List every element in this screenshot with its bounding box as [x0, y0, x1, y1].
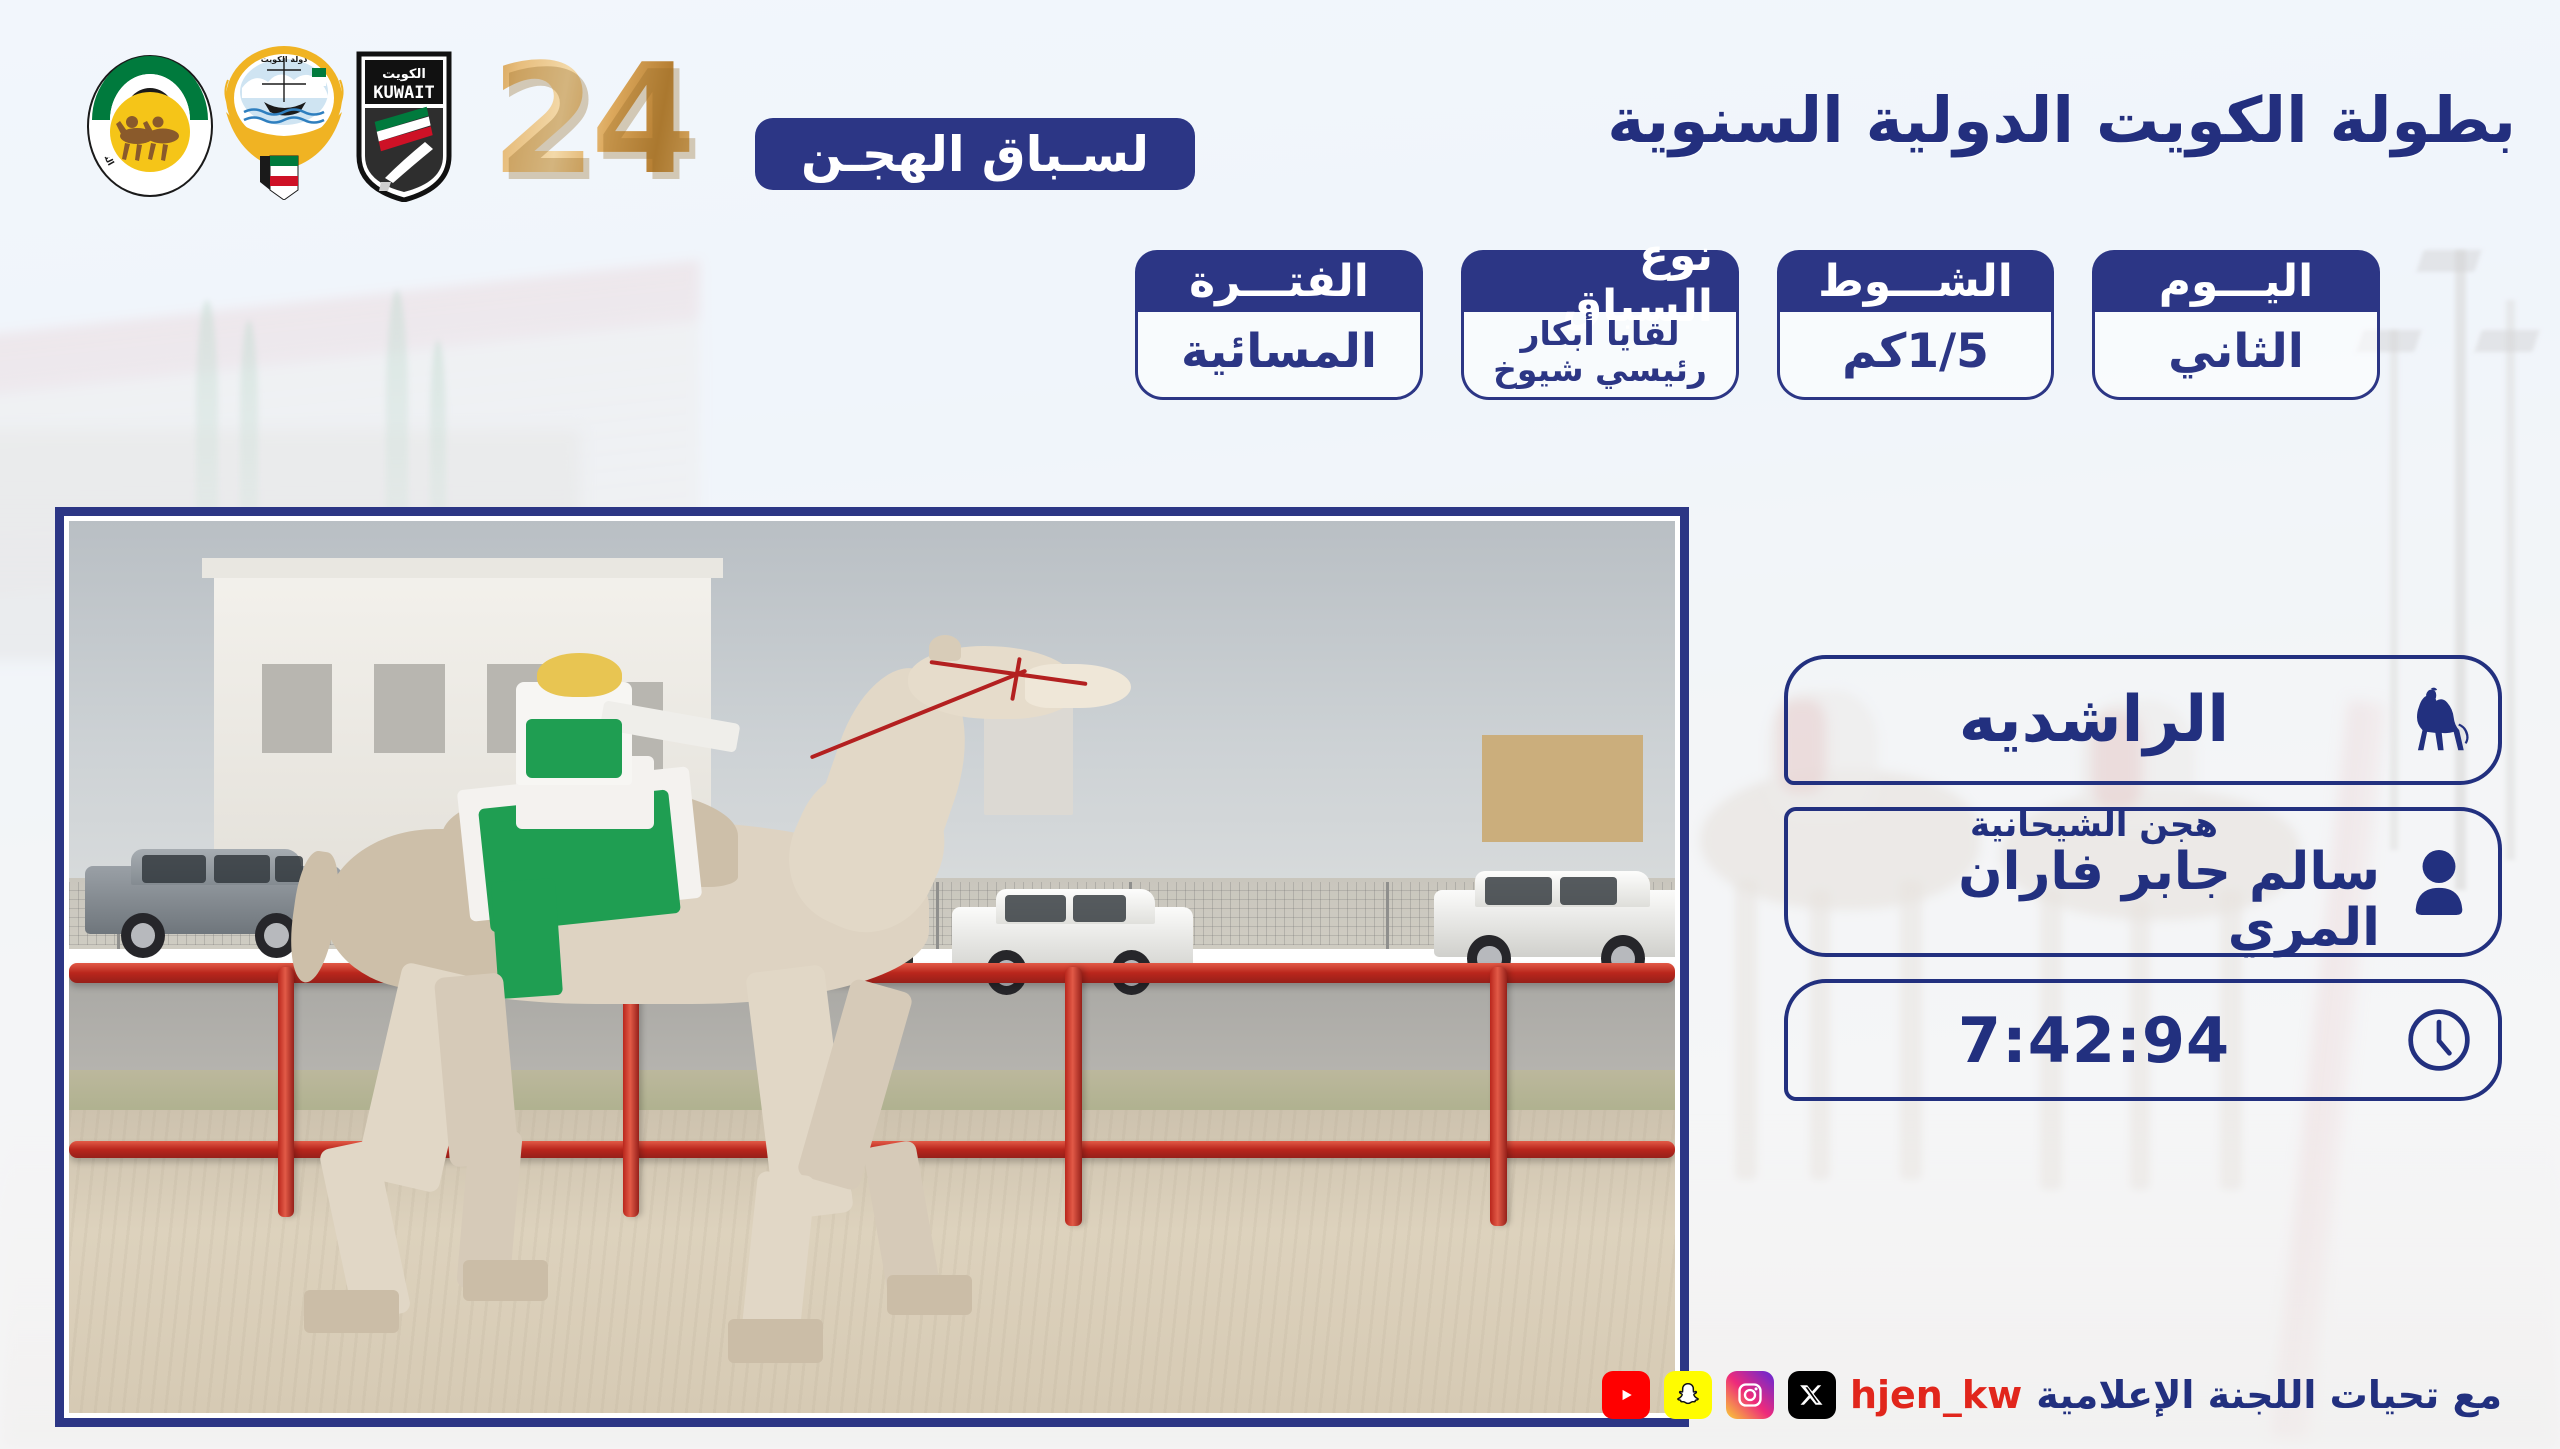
camel-ear: [929, 635, 961, 661]
info-card-day: اليـــوم الثاني: [2092, 250, 2380, 400]
photo-shed: [1482, 735, 1643, 842]
subtitle-pill-label: لسـباق الهجـن: [801, 126, 1149, 183]
instagram-icon[interactable]: [1726, 1371, 1774, 1419]
race-photo: [69, 521, 1675, 1413]
info-card-heat: الشـــوط 1/5كم: [1777, 250, 2054, 400]
camel-front-hoof-near: [728, 1319, 823, 1363]
result-side-panels: الراشديه هجن الشيحانية سالم جابر فاران ا…: [1784, 655, 2502, 1101]
header: النادي الكويتي لسباق الهجن: [0, 0, 2560, 235]
photo-racing-camel: [230, 646, 1290, 1377]
owner-stable-name: هجن الشيحانية: [1970, 808, 2218, 842]
info-card-day-header: اليـــوم: [2092, 250, 2380, 312]
page-title: بطولة الكويت الدولية السنوية: [1607, 84, 2516, 157]
clock-icon: [2380, 1006, 2498, 1074]
kuwait-national-shield-logo: الكويت KUWAIT: [355, 50, 453, 202]
camel-hind-hoof-near: [304, 1290, 399, 1334]
camel-rider-vest: [526, 719, 621, 778]
state-of-kuwait-emblem: دولة الكويت: [212, 40, 357, 200]
owner-panel: هجن الشيحانية سالم جابر فاران المري: [1784, 807, 2502, 957]
owner-text-wrap: هجن الشيحانية سالم جابر فاران المري: [1788, 808, 2380, 956]
info-card-race-type: نوع السباق لقايا أبكار رئيسي شيوخ: [1461, 250, 1739, 400]
footer: مع تحيات اللجنة الإعلامية hjen_kw: [1602, 1371, 2502, 1419]
photo-building-roof: [202, 558, 722, 578]
race-time-wrap: 7:42:94: [1788, 1004, 2380, 1077]
camel-name-panel: الراشديه: [1784, 655, 2502, 785]
owner-name-value: سالم جابر فاران المري: [1808, 844, 2380, 956]
info-card-day-value: الثاني: [2092, 312, 2380, 400]
camel-front-hoof-far: [887, 1275, 972, 1315]
info-card-period-value: المسائية: [1135, 312, 1423, 400]
snapchat-icon[interactable]: [1664, 1371, 1712, 1419]
info-card-race-type-value: لقايا أبكار رئيسي شيوخ: [1461, 312, 1739, 400]
camel-muzzle: [1025, 664, 1131, 708]
info-card-period: الفتـــرة المسائية: [1135, 250, 1423, 400]
kuwait-camel-racing-club-logo: النادي الكويتي لسباق الهجن: [85, 48, 215, 198]
camel-name-wrap: الراشديه: [1788, 683, 2380, 757]
anniversary-year-badge: 24: [478, 40, 703, 200]
subtitle-pill: لسـباق الهجـن: [755, 118, 1195, 190]
person-icon: [2380, 847, 2498, 917]
footer-credit-text: مع تحيات اللجنة الإعلامية: [2036, 1373, 2502, 1417]
photo-track-rail-post: [1490, 967, 1507, 1226]
info-card-heat-header: الشـــوط: [1777, 250, 2054, 312]
info-card-period-header: الفتـــرة: [1135, 250, 1423, 312]
x-icon[interactable]: [1788, 1371, 1836, 1419]
info-card-heat-value: 1/5كم: [1777, 312, 2054, 400]
race-time-panel: 7:42:94: [1784, 979, 2502, 1101]
race-time-value: 7:42:94: [1958, 1004, 2230, 1077]
photo-fence-post: [1386, 882, 1389, 949]
camel-name-value: الراشديه: [1959, 683, 2229, 757]
svg-text:KUWAIT: KUWAIT: [373, 83, 434, 103]
info-card-race-type-header: نوع السباق: [1461, 250, 1739, 312]
photo-vehicle-suv-white-3: [1434, 869, 1675, 976]
svg-text:الكويت: الكويت: [382, 67, 426, 82]
race-photo-frame: [55, 507, 1689, 1427]
footer-social-handle: hjen_kw: [1850, 1373, 2022, 1417]
camel-icon: [2380, 687, 2498, 753]
race-info-cards: اليـــوم الثاني الشـــوط 1/5كم نوع السبا…: [1135, 250, 2380, 400]
camel-rider-helmet: [537, 653, 622, 697]
youtube-icon[interactable]: [1602, 1371, 1650, 1419]
camel-hind-hoof-far: [463, 1260, 548, 1300]
svg-text:دولة الكويت: دولة الكويت: [261, 55, 308, 64]
